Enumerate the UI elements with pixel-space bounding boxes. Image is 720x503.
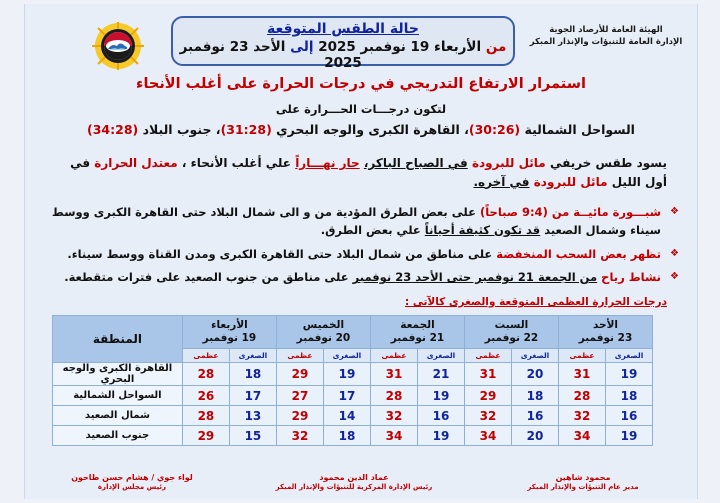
para-seg-8: مائل للبرودة <box>534 175 608 189</box>
table-intro-text: درجات الحرارة العظمى المتوقعة والصغرى كا… <box>405 296 667 308</box>
cell-r1-d3-max: 29 <box>464 386 511 406</box>
sub-header-min-2: الصغرى <box>417 349 464 363</box>
agency-name-line1: الهيئة العامة للأرصاد الجوية <box>523 24 689 36</box>
cell-r2-d2-min: 16 <box>417 406 464 426</box>
bullet-1-seg-1: شبـــورة مائيــة من (9:4 صباحاً) <box>480 205 661 219</box>
agency-name-block: الهيئة العامة للأرصاد الجوية الإدارة الع… <box>523 24 689 49</box>
cell-r2-d4-max: 32 <box>558 406 605 426</box>
signature-block-right: محمود شاهين مدير عام التنبؤات والإنذار ا… <box>483 472 683 493</box>
sub-header-min-4: الصغرى <box>229 349 276 363</box>
signature-left-name: لواء جوي / هشام حسن طاحون <box>37 472 227 483</box>
forecast-bullet-list: ❖ شبـــورة مائيــة من (9:4 صباحاً) على ب… <box>43 204 679 293</box>
date-range-from-label: من <box>486 39 507 55</box>
cell-r3-d3-max: 34 <box>464 426 511 446</box>
day-date-3: 20 نوفمبر <box>277 332 370 345</box>
cell-r1-d0-min: 17 <box>229 386 276 406</box>
sub-header-max-1: عظمى <box>464 349 511 363</box>
cell-r2-d2-max: 32 <box>370 406 417 426</box>
cell-r1-d4-min: 18 <box>606 386 653 406</box>
region-label-3: جنوب الصعيد <box>52 426 182 446</box>
cell-r0-d2-max: 31 <box>370 363 417 386</box>
cell-r3-d2-max: 34 <box>370 426 417 446</box>
cell-r3-d1-min: 18 <box>323 426 370 446</box>
list-item: ❖ تظهر بعض السحب المنخفضة على مناطق من ش… <box>43 246 679 264</box>
coast-label: السواحل الشمالية <box>524 122 635 137</box>
signature-block-left: لواء جوي / هشام حسن طاحون رئيس مجلس الإد… <box>37 472 227 493</box>
bullet-3-seg-3: على مناطق من جنوب الصعيد على فترات متقطع… <box>64 270 348 284</box>
cell-r1-d1-min: 17 <box>323 386 370 406</box>
page-title: حالة الطقس المتوقعة <box>173 21 513 37</box>
cell-r2-d3-max: 32 <box>464 406 511 426</box>
bullet-diamond-icon: ❖ <box>670 269 679 285</box>
region-label-0: القاهرة الكبرى والوجه البحري <box>52 363 182 386</box>
cairo-label: ، القاهرة الكبرى والوجه البحري <box>276 122 469 137</box>
cell-r2-d0-min: 13 <box>229 406 276 426</box>
forecast-subline: لتكون درجـــات الحـــرارة على <box>25 102 697 116</box>
south-range: (34:28) <box>87 122 138 137</box>
day-date-0: 23 نوفمبر <box>559 332 652 345</box>
cell-r3-d0-min: 15 <box>229 426 276 446</box>
cell-r1-d4-max: 28 <box>558 386 605 406</box>
list-item: ❖ شبـــورة مائيــة من (9:4 صباحاً) على ب… <box>43 204 679 240</box>
day-date-4: 19 نوفمبر <box>183 332 276 345</box>
document-sheet: الهيئة العامة للأرصاد الجوية الإدارة الع… <box>24 4 698 499</box>
signature-left-role: رئيس مجلس الإدارة <box>37 483 227 493</box>
forecast-table-wrapper: الأحد 23 نوفمبر السبت 22 نوفمبر الجمعة 2… <box>53 315 653 446</box>
day-name-2: الجمعة <box>371 319 464 332</box>
table-row: 19 31 20 31 21 31 19 29 18 28 القاهرة ال… <box>52 363 652 386</box>
cairo-range: (31:28) <box>221 122 272 137</box>
day-name-0: الأحد <box>559 319 652 332</box>
para-seg-9: في آخره. <box>473 175 529 189</box>
cell-r0-d3-max: 31 <box>464 363 511 386</box>
bullet-diamond-icon: ❖ <box>670 204 679 220</box>
date-range-start: الأربعاء 19 نوفمبر 2025 <box>318 39 481 55</box>
day-header-1: السبت 22 نوفمبر <box>464 316 558 349</box>
cell-r0-d2-min: 21 <box>417 363 464 386</box>
cell-r3-d2-min: 19 <box>417 426 464 446</box>
weather-forecast-page: الهيئة العامة للأرصاد الجوية الإدارة الع… <box>0 0 720 503</box>
cell-r3-d1-max: 32 <box>276 426 323 446</box>
sub-header-max-3: عظمى <box>276 349 323 363</box>
weather-description-paragraph: يسود طقس خريفي مائل للبرودة في الصباح ال… <box>55 154 667 191</box>
signature-middle-name: عماد الدين محمود <box>239 472 469 483</box>
cell-r0-d1-max: 29 <box>276 363 323 386</box>
bullet-1-seg-4: علي بعض الطرق. <box>321 223 421 237</box>
date-range-to-label: إلى <box>290 39 313 55</box>
document-footer: محمود شاهين مدير عام التنبؤات والإنذار ا… <box>25 466 697 500</box>
bullet-3-seg-2: من الجمعة 21 نوفمبر حتى الأحد 23 نوفمبر <box>353 270 598 284</box>
cell-r1-d0-max: 26 <box>182 386 229 406</box>
day-name-3: الخميس <box>277 319 370 332</box>
para-seg-2: مائل للبرودة <box>472 156 546 170</box>
cell-r3-d4-max: 34 <box>558 426 605 446</box>
region-column-header: المنطقة <box>52 316 182 363</box>
sub-header-max-4: عظمى <box>182 349 229 363</box>
day-date-1: 22 نوفمبر <box>465 332 558 345</box>
document-header: الهيئة العامة للأرصاد الجوية الإدارة الع… <box>25 10 697 72</box>
day-header-2: الجمعة 21 نوفمبر <box>370 316 464 349</box>
bullet-2-seg-1: تظهر بعض السحب المنخفضة <box>496 247 661 261</box>
forecast-title-box: حالة الطقس المتوقعة من الأربعاء 19 نوفمب… <box>171 16 515 66</box>
para-seg-4: حار نهـــاراً <box>295 156 360 170</box>
signature-block-middle: عماد الدين محمود رئيس الإدارة المركزية ل… <box>239 472 469 493</box>
cell-r0-d0-max: 28 <box>182 363 229 386</box>
sub-header-max-2: عظمى <box>370 349 417 363</box>
cell-r2-d1-max: 29 <box>276 406 323 426</box>
sub-header-min-3: الصغرى <box>323 349 370 363</box>
cell-r2-d3-min: 16 <box>511 406 558 426</box>
south-label: ، جنوب البلاد <box>143 122 221 137</box>
day-header-0: الأحد 23 نوفمبر <box>558 316 652 349</box>
day-name-1: السبت <box>465 319 558 332</box>
table-header-days-row: الأحد 23 نوفمبر السبت 22 نوفمبر الجمعة 2… <box>52 316 652 349</box>
cell-r3-d0-max: 29 <box>182 426 229 446</box>
para-seg-1: يسود طقس خريفي <box>550 156 667 170</box>
temperature-summary-line: السواحل الشمالية (30:26)، القاهرة الكبرى… <box>25 122 697 137</box>
signature-right-name: محمود شاهين <box>483 472 683 483</box>
table-row: 16 32 16 32 16 32 14 29 13 28 شمال الصعي… <box>52 406 652 426</box>
table-body: 19 31 20 31 21 31 19 29 18 28 القاهرة ال… <box>52 363 652 446</box>
para-seg-5: علي أغلب الأنحاء ، <box>182 156 291 170</box>
agency-department-line2: الإدارة العامة للتنبؤات والإنذار المبكر <box>523 36 689 48</box>
cell-r1-d2-max: 28 <box>370 386 417 406</box>
cell-r3-d3-min: 20 <box>511 426 558 446</box>
cell-r0-d0-min: 18 <box>229 363 276 386</box>
cell-r1-d1-max: 27 <box>276 386 323 406</box>
cell-r0-d4-max: 31 <box>558 363 605 386</box>
bullet-diamond-icon: ❖ <box>670 246 679 262</box>
signature-middle-role: رئيس الإدارة المركزية للتنبؤات والإنذار … <box>239 483 469 493</box>
cell-r3-d4-min: 19 <box>606 426 653 446</box>
day-date-2: 21 نوفمبر <box>371 332 464 345</box>
emblem-icon <box>87 22 149 70</box>
sub-header-min-0: الصغرى <box>606 349 653 363</box>
coast-range: (30:26) <box>469 122 520 137</box>
day-header-3: الخميس 20 نوفمبر <box>276 316 370 349</box>
sub-header-max-0: عظمى <box>558 349 605 363</box>
cell-r2-d4-min: 16 <box>606 406 653 426</box>
table-row: 18 28 18 29 19 28 17 27 17 26 السواحل ال… <box>52 386 652 406</box>
forecast-date-range: من الأربعاء 19 نوفمبر 2025 إلى الأحد 23 … <box>173 39 513 71</box>
cell-r0-d3-min: 20 <box>511 363 558 386</box>
temperature-forecast-table: الأحد 23 نوفمبر السبت 22 نوفمبر الجمعة 2… <box>52 315 653 446</box>
cell-r0-d4-min: 19 <box>606 363 653 386</box>
cell-r2-d1-min: 14 <box>323 406 370 426</box>
para-seg-6: معتدل الحرارة <box>94 156 177 170</box>
table-row: 19 34 20 34 19 34 18 32 15 29 جنوب الصعي… <box>52 426 652 446</box>
signature-right-role: مدير عام التنبؤات والإنذار المبكر <box>483 483 683 493</box>
bullet-1-seg-3: قد تكون كثيفة أحياناً <box>425 223 540 237</box>
cell-r2-d0-max: 28 <box>182 406 229 426</box>
day-name-4: الأربعاء <box>183 319 276 332</box>
list-item: ❖ نشاط رياح من الجمعة 21 نوفمبر حتى الأح… <box>43 269 679 287</box>
region-label-2: شمال الصعيد <box>52 406 182 426</box>
cell-r1-d2-min: 19 <box>417 386 464 406</box>
day-header-4: الأربعاء 19 نوفمبر <box>182 316 276 349</box>
sub-header-min-1: الصغرى <box>511 349 558 363</box>
cell-r0-d1-min: 19 <box>323 363 370 386</box>
forecast-headline: استمرار الارتفاع التدريجي في درجات الحرا… <box>25 76 697 92</box>
para-seg-3: في الصباح الباكر، <box>364 156 468 170</box>
bullet-2-seg-2: على مناطق من شمال البلاد حتى القاهرة الك… <box>67 247 492 261</box>
region-label-1: السواحل الشمالية <box>52 386 182 406</box>
cell-r1-d3-min: 18 <box>511 386 558 406</box>
bullet-3-seg-1: نشاط رياح <box>601 270 661 284</box>
